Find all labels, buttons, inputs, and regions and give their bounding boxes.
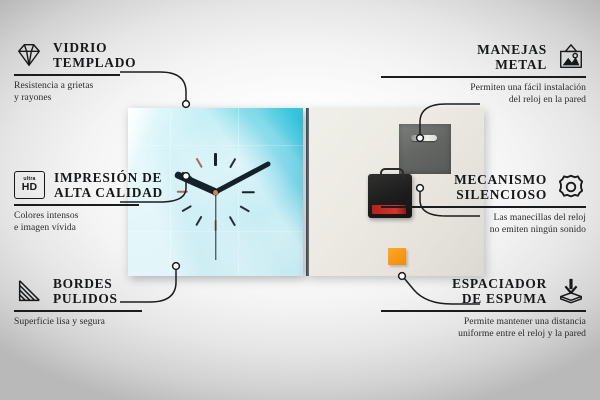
feature-description: Superficie lisa y segura: [14, 316, 219, 329]
feature-title: IMPRESIÓN DE ALTA CALIDAD: [54, 170, 163, 200]
connector-manejas: [420, 104, 480, 136]
feature-vidrio-templado: VIDRIO TEMPLADO Resistencia a grietas y …: [14, 40, 219, 105]
feature-rule: [14, 310, 142, 312]
feature-title: BORDES PULIDOS: [53, 276, 118, 306]
polished-edge-icon: [14, 277, 44, 305]
feature-title: ESPACIADOR DE ESPUMA: [452, 276, 547, 306]
foam-spacer-icon: [556, 277, 586, 305]
connector-dot-manejas: [417, 135, 424, 142]
feature-bordes-pulidos: BORDES PULIDOS Superficie lisa y segura: [14, 276, 219, 328]
feature-rule: [14, 204, 139, 206]
feature-description: Permite mantener una distancia uniforme …: [381, 316, 586, 342]
feature-rule: [381, 76, 586, 78]
ultra-hd-icon: ultra HD: [14, 171, 45, 199]
feature-description: Resistencia a grietas y rayones: [14, 80, 219, 106]
connector-dot-bordes: [173, 263, 180, 270]
picture-hanger-icon: [556, 43, 586, 71]
feature-rule: [381, 206, 586, 208]
diamond-icon: [14, 41, 44, 69]
feature-title: MANEJAS METAL: [477, 42, 547, 72]
feature-description: Colores intensos e imagen vívida: [14, 210, 219, 236]
feature-rule: [381, 310, 586, 312]
feature-espaciador-espuma: ESPACIADOR DE ESPUMA Permite mantener un…: [381, 276, 586, 341]
feature-title: VIDRIO TEMPLADO: [53, 40, 136, 70]
feature-rule: [14, 74, 120, 76]
feature-title: MECANISMO SILENCIOSO: [454, 172, 547, 202]
feature-description: Las manecillas del reloj no emiten ningú…: [381, 212, 586, 238]
feature-impresion-alta-calidad: ultra HD IMPRESIÓN DE ALTA CALIDAD Color…: [14, 170, 219, 235]
feature-description: Permiten una fácil instalación del reloj…: [381, 82, 586, 108]
gear-icon: [556, 173, 586, 201]
feature-manejas-metal: MANEJAS METAL Permiten una fácil instala…: [381, 42, 586, 107]
feature-mecanismo-silencioso: MECANISMO SILENCIOSO Las manecillas del …: [381, 172, 586, 237]
infographic-canvas: VIDRIO TEMPLADO Resistencia a grietas y …: [0, 0, 600, 400]
